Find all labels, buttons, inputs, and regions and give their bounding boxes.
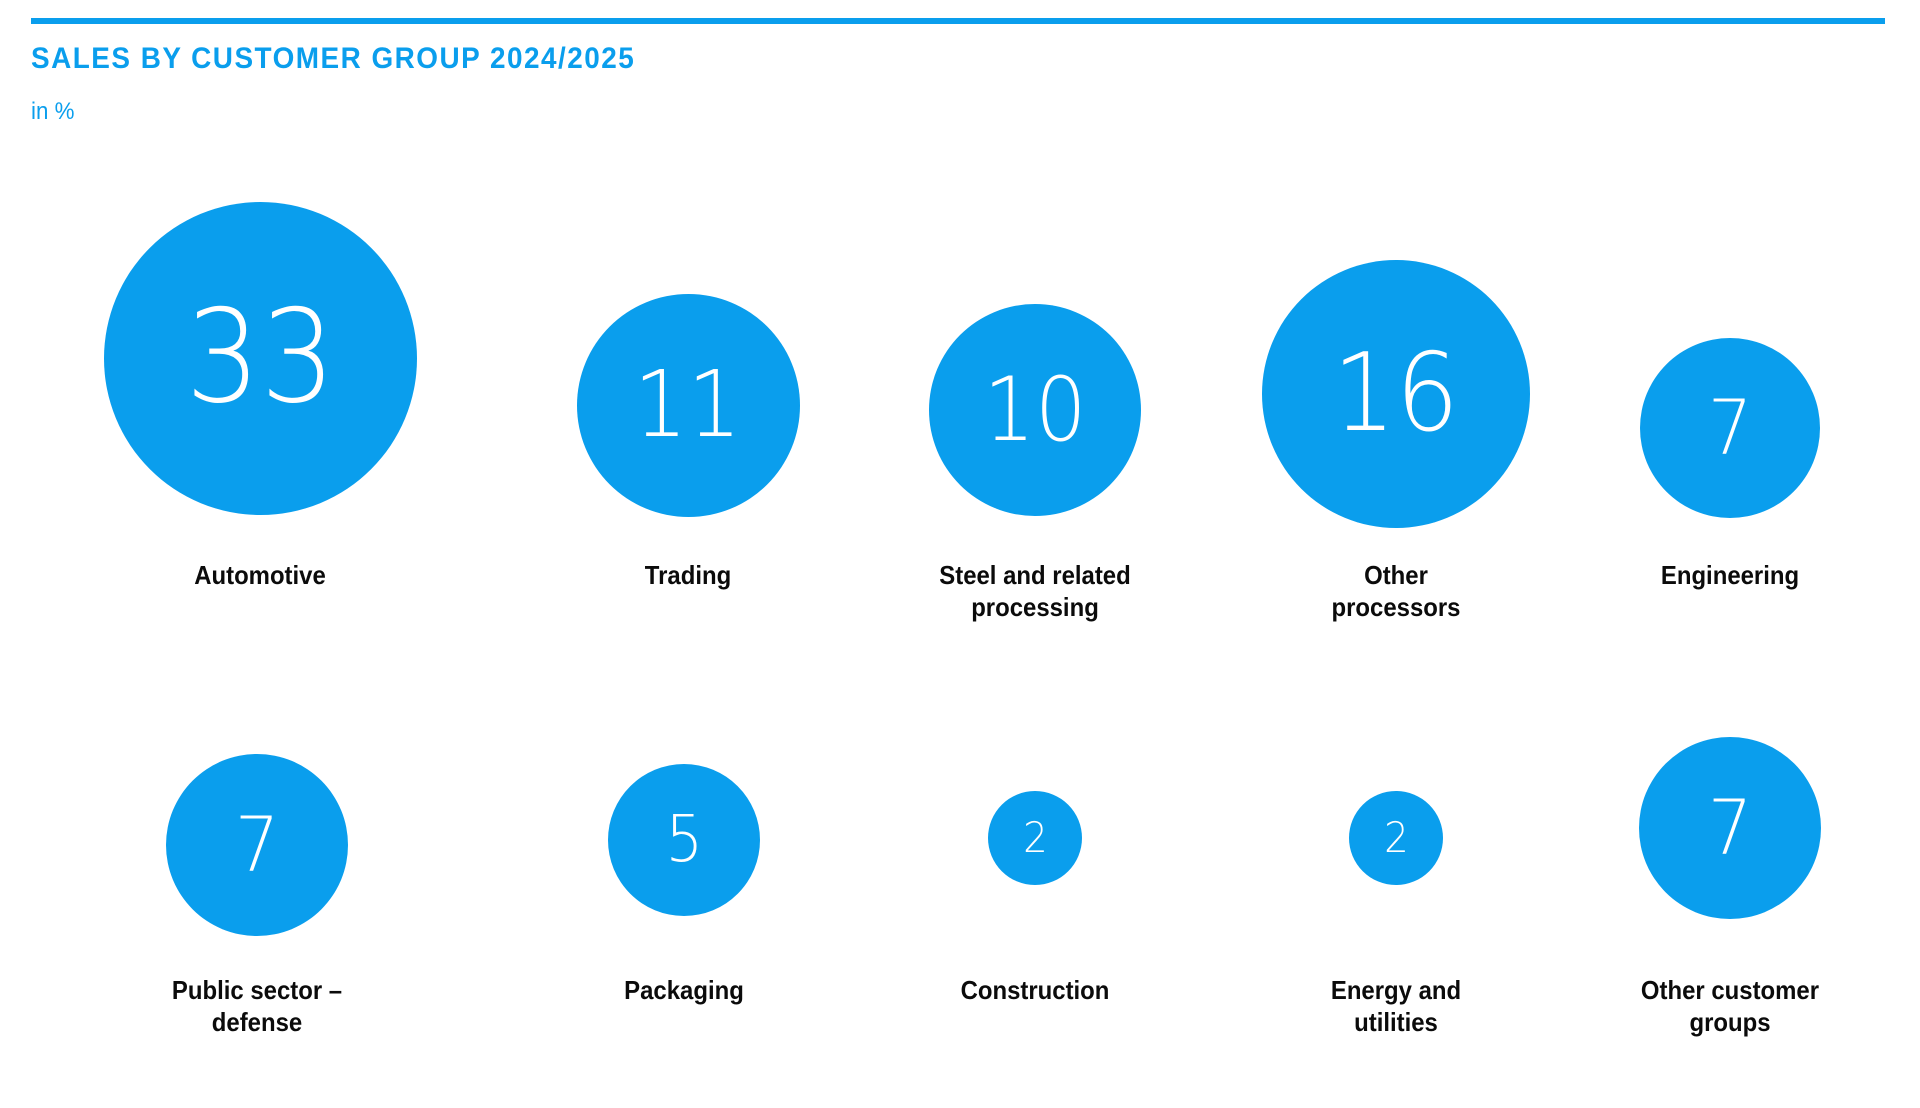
bubble-public-sector-defense[interactable]: 7 (166, 754, 348, 936)
bubble-label-line1-energy-and-utilities: Energy and (1212, 975, 1580, 1007)
bubble-steel-and-related-processing[interactable]: 10 (929, 304, 1141, 516)
bubble-value-public-sector-defense: 7 (235, 807, 279, 883)
bubble-label-line1-engineering: Engineering (1546, 560, 1914, 592)
bubble-label-energy-and-utilities: Energy andutilities (1212, 975, 1580, 1038)
bubble-value-other-customer-groups: 7 (1708, 790, 1752, 866)
bubble-label-line1-trading: Trading (504, 560, 872, 592)
bubble-label-line2-steel-and-related-processing: processing (851, 592, 1219, 624)
bubble-packaging[interactable]: 5 (608, 764, 760, 916)
bubble-label-line1-automotive: Automotive (76, 560, 444, 592)
bubble-label-engineering: Engineering (1546, 560, 1914, 592)
bubble-other-customer-groups[interactable]: 7 (1639, 737, 1821, 919)
bubble-label-line1-construction: Construction (851, 975, 1219, 1007)
bubble-label-line1-packaging: Packaging (500, 975, 868, 1007)
bubble-other-processors[interactable]: 16 (1262, 260, 1530, 528)
bubble-value-engineering: 7 (1708, 390, 1752, 466)
bubble-label-automotive: Automotive (76, 560, 444, 592)
bubble-engineering[interactable]: 7 (1640, 338, 1820, 518)
infographic-root: SALES BY CUSTOMER GROUP 2024/2025 in % 3… (0, 0, 1920, 1108)
bubble-trading[interactable]: 11 (577, 294, 800, 517)
bubble-value-steel-and-related-processing: 10 (983, 366, 1086, 454)
bubble-value-automotive: 33 (185, 294, 335, 422)
bubble-value-energy-and-utilities: 2 (1384, 817, 1409, 859)
bubble-label-line2-energy-and-utilities: utilities (1212, 1007, 1580, 1039)
bubble-value-trading: 11 (634, 359, 742, 451)
bubble-label-line2-other-processors: processors (1212, 592, 1580, 624)
bubble-label-construction: Construction (851, 975, 1219, 1007)
bubble-value-construction: 2 (1023, 817, 1048, 859)
bubble-label-line1-steel-and-related-processing: Steel and related (851, 560, 1219, 592)
bubble-value-other-processors: 16 (1333, 340, 1459, 448)
bubble-energy-and-utilities[interactable]: 2 (1349, 791, 1443, 885)
bubble-label-packaging: Packaging (500, 975, 868, 1007)
bubble-construction[interactable]: 2 (988, 791, 1082, 885)
bubble-label-line1-other-processors: Other (1212, 560, 1580, 592)
bubble-automotive[interactable]: 33 (104, 202, 417, 515)
bubble-label-other-customer-groups: Other customergroups (1546, 975, 1914, 1038)
bubble-label-line1-other-customer-groups: Other customer (1546, 975, 1914, 1007)
bubble-label-trading: Trading (504, 560, 872, 592)
bubble-value-packaging: 5 (665, 808, 702, 872)
bubble-label-steel-and-related-processing: Steel and relatedprocessing (851, 560, 1219, 623)
bubble-chart-plot: 33Automotive11Trading10Steel and related… (0, 0, 1920, 1108)
bubble-label-line1-public-sector-defense: Public sector – (73, 975, 441, 1007)
bubble-label-public-sector-defense: Public sector –defense (73, 975, 441, 1038)
bubble-label-other-processors: Otherprocessors (1212, 560, 1580, 623)
bubble-label-line2-other-customer-groups: groups (1546, 1007, 1914, 1039)
bubble-label-line2-public-sector-defense: defense (73, 1007, 441, 1039)
